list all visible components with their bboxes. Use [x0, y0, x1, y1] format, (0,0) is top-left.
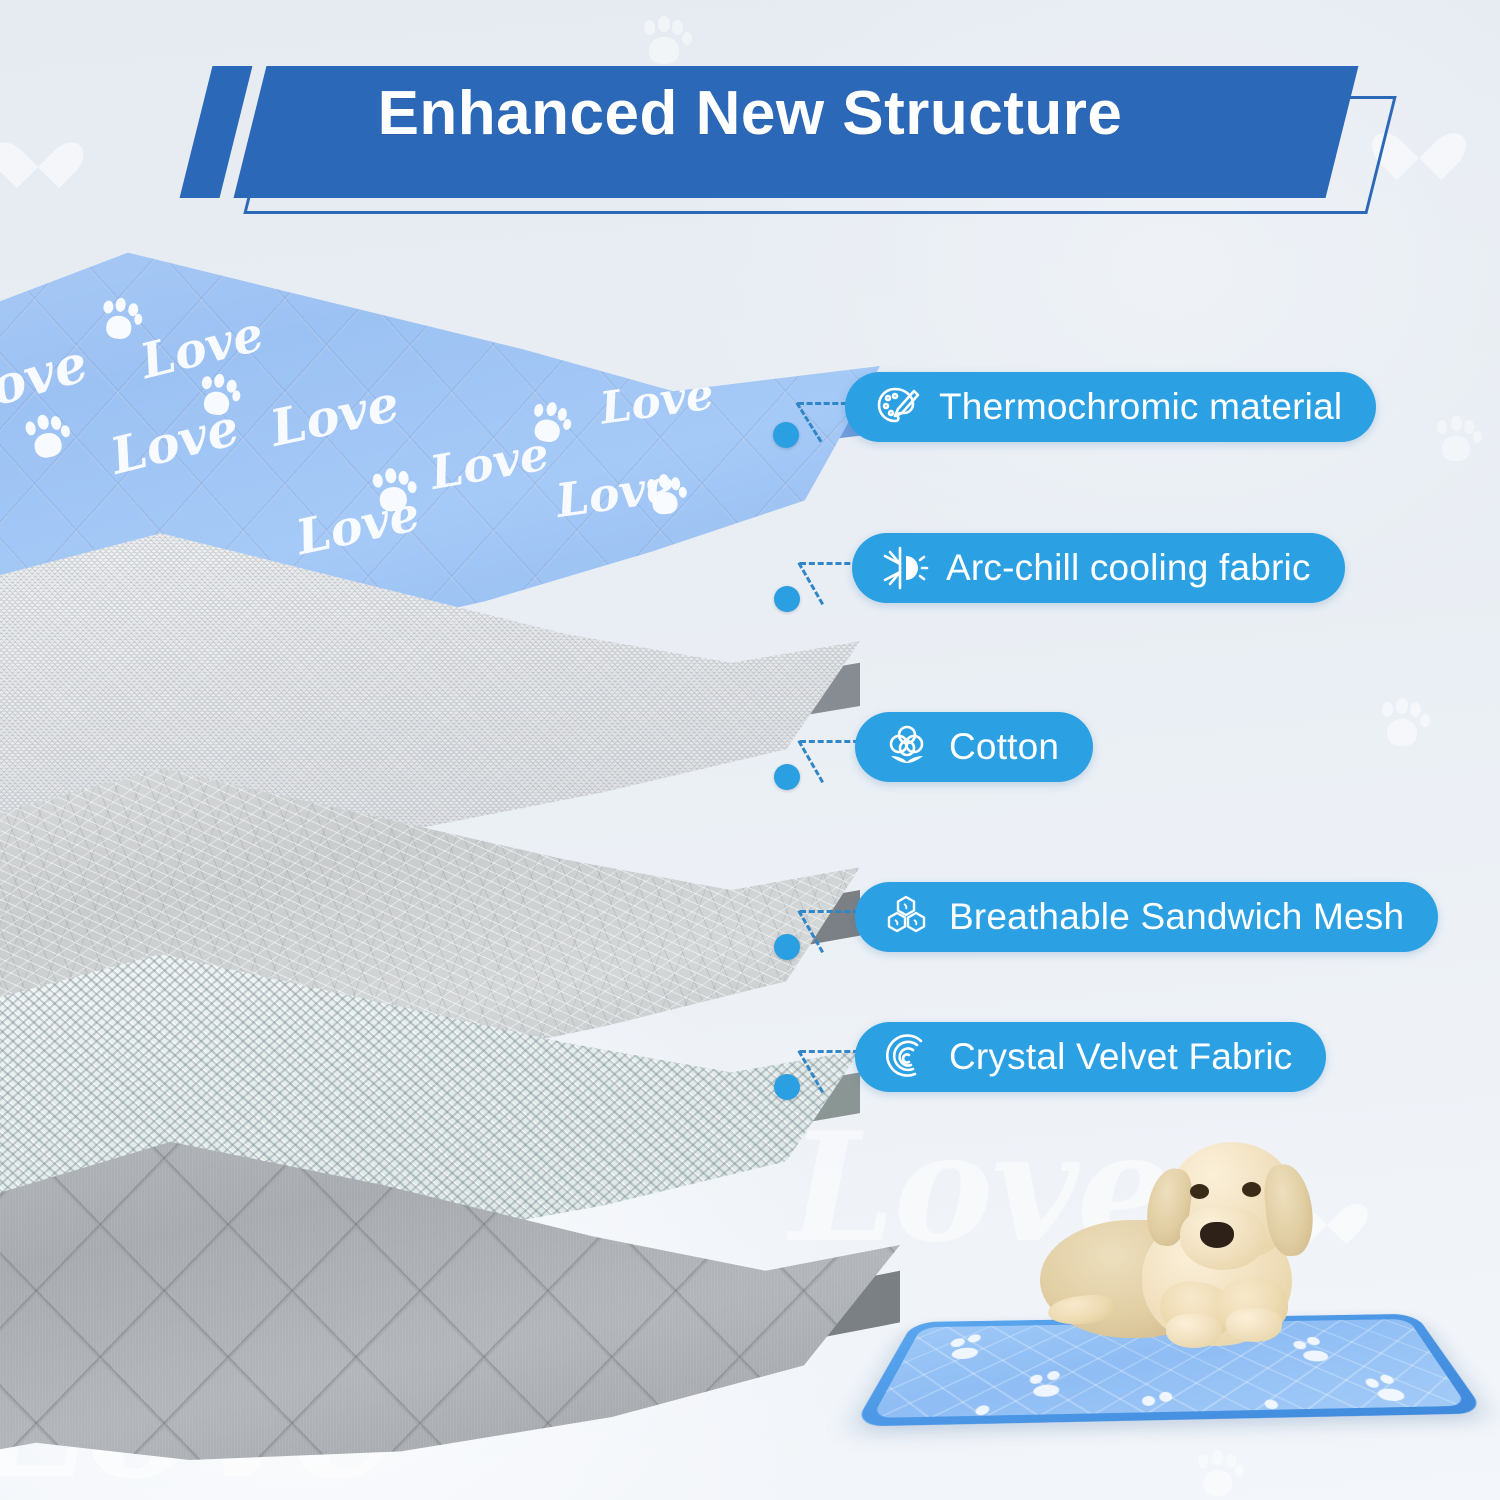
snowflake-sun-icon	[878, 542, 930, 594]
layer-surface	[0, 1030, 900, 1460]
fabric-love-print: Love	[0, 333, 94, 429]
label-cotton[interactable]: Cotton	[855, 712, 1093, 782]
dog-front-paw	[1226, 1308, 1282, 1342]
label-crystal-velvet-fabric[interactable]: Crystal Velvet Fabric	[855, 1022, 1326, 1092]
label-thermochromic-material[interactable]: Thermochromic material	[845, 372, 1376, 442]
palette-icon	[871, 381, 923, 433]
cotton-boll-icon	[881, 721, 933, 773]
layer-crystal-velvet	[0, 1030, 900, 1460]
paw-print-icon	[527, 401, 573, 447]
product-photo-dog-on-mat	[880, 1120, 1480, 1480]
infographic-canvas: Love Love Enhanced New Structure Love Lo…	[0, 0, 1500, 1500]
dog-front-paw	[1166, 1314, 1222, 1348]
dog-eye	[1242, 1182, 1261, 1197]
page-title: Enhanced New Structure	[0, 78, 1500, 149]
honeycomb-icon	[881, 891, 933, 943]
paw-print-icon	[1378, 700, 1430, 752]
fabric-love-print: Love	[265, 373, 404, 458]
label-text: Breathable Sandwich Mesh	[949, 896, 1404, 938]
paw-print-icon	[195, 373, 242, 420]
paw-print-icon	[22, 412, 74, 464]
labrador-puppy	[1030, 1128, 1360, 1388]
dog-nose	[1200, 1222, 1234, 1248]
label-breathable-sandwich-mesh[interactable]: Breathable Sandwich Mesh	[855, 882, 1438, 952]
label-text: Thermochromic material	[939, 386, 1342, 428]
label-text: Arc-chill cooling fabric	[946, 547, 1311, 589]
label-text: Crystal Velvet Fabric	[949, 1036, 1292, 1078]
dog-eye	[1190, 1184, 1209, 1199]
label-text: Cotton	[949, 726, 1059, 768]
title-banner: Enhanced New Structure	[0, 0, 1500, 240]
velvet-swirl-icon	[881, 1031, 933, 1083]
fabric-love-print: Love	[597, 368, 717, 434]
label-arc-chill-cooling-fabric[interactable]: Arc-chill cooling fabric	[852, 533, 1345, 603]
paw-print-icon	[98, 298, 144, 344]
paw-print-icon	[1434, 418, 1482, 466]
